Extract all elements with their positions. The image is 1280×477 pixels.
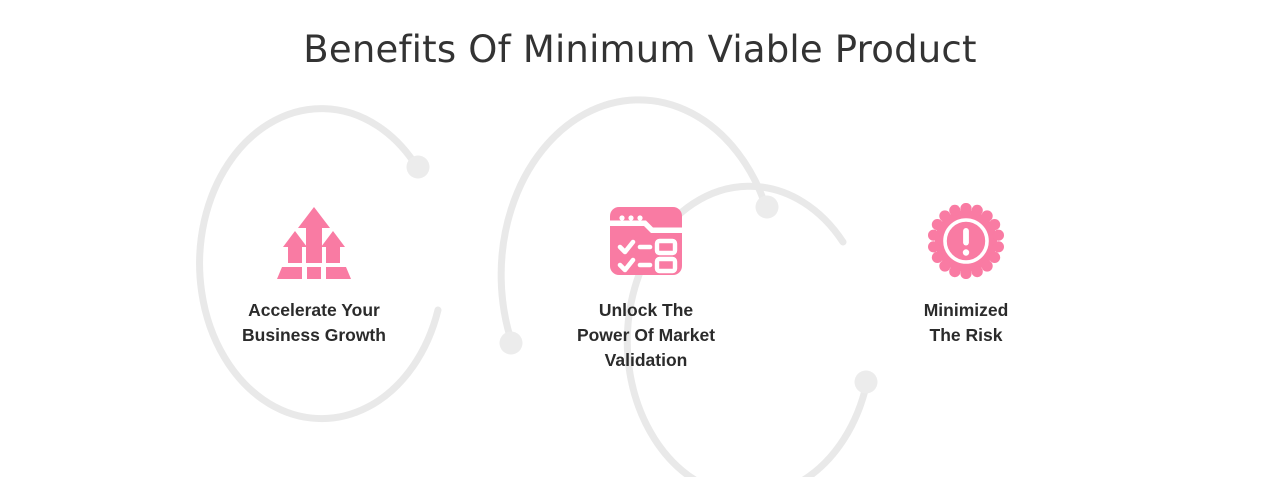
risk-alert-gear-icon — [928, 203, 1004, 279]
page-title: Benefits Of Minimum Viable Product — [0, 28, 1280, 71]
step-label-line: Business Growth — [184, 323, 444, 348]
step-label-line: Minimized — [836, 298, 1096, 323]
step-label-line: Validation — [516, 348, 776, 373]
risk-alert-gear-icon-wrapper — [836, 198, 1096, 284]
step-label: Minimized The Risk — [836, 298, 1096, 348]
step-label: Unlock The Power Of Market Validation — [516, 298, 776, 373]
connector-node-1 — [407, 156, 430, 179]
step-unlock-the-power-of-market-validation[interactable]: Unlock The Power Of Market Validation — [516, 198, 776, 373]
growth-arrows-icon — [274, 201, 354, 281]
infographic-canvas: Benefits Of Minimum Viable Product — [0, 0, 1280, 477]
step-label-line: Accelerate Your — [184, 298, 444, 323]
step-minimized-the-risk[interactable]: Minimized The Risk — [836, 198, 1096, 348]
step-accelerate-your-business-growth[interactable]: Accelerate Your Business Growth — [184, 198, 444, 348]
growth-arrows-icon-wrapper — [184, 198, 444, 284]
step-label-line: The Risk — [836, 323, 1096, 348]
connector-node-4 — [855, 371, 878, 394]
market-validation-checklist-icon — [608, 203, 684, 279]
market-validation-checklist-icon-wrapper — [516, 198, 776, 284]
step-label-line: Power Of Market — [516, 323, 776, 348]
step-label: Accelerate Your Business Growth — [184, 298, 444, 348]
step-label-line: Unlock The — [516, 298, 776, 323]
